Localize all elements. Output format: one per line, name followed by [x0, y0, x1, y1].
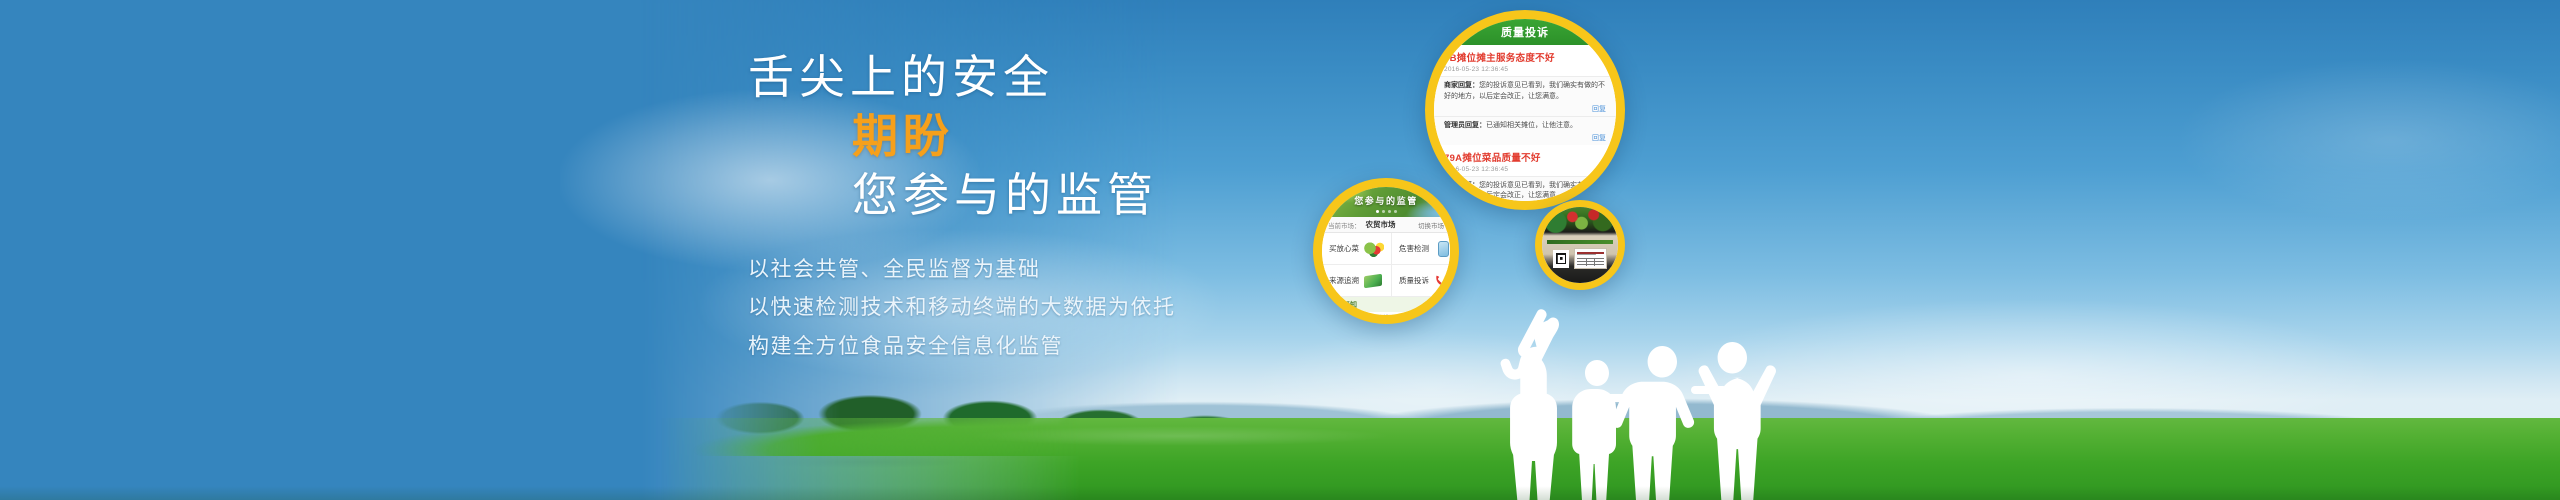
- complaint-title: 79A摊位菜品质量不好: [1444, 150, 1606, 164]
- meadow-grass: [0, 418, 2560, 500]
- carousel-dot[interactable]: [1388, 210, 1391, 213]
- complaint-reply: 管理员回复：已通知相关摊位，让他注意。 回复: [1434, 116, 1616, 145]
- complaint-list: 6B摊位摊主服务态度不好 2016-05-23 12:36:45 商家回复：您的…: [1434, 45, 1616, 201]
- complaint-screenshot-bubble[interactable]: 质量投诉 6B摊位摊主服务态度不好 2016-05-23 12:36:45 商家…: [1425, 10, 1625, 210]
- menu-item-buy-safe-vegetables[interactable]: 买放心菜: [1322, 233, 1392, 265]
- complaint-reply: 商家回复：您的投诉意见已看到，我们确实有做的不好的地方，以后定会改正，让您满意。: [1434, 176, 1616, 201]
- current-market-value: 农贸市场: [1366, 219, 1396, 230]
- reply-link[interactable]: 回复: [1444, 133, 1606, 143]
- vegetables-icon: [1364, 241, 1384, 257]
- merchant-reply-text: 商家回复：您的投诉意见已看到，我们确实有做的不好的地方，以后定会改正，让您满意。: [1444, 81, 1606, 103]
- qr-code-sign: [1553, 250, 1570, 268]
- subtitle-line: 构建全方位食品安全信息化监管: [748, 328, 1488, 367]
- menu-item-label: 质量投诉: [1399, 275, 1429, 286]
- menu-item-hazard-detection[interactable]: 危害检测: [1392, 233, 1450, 265]
- reply-body: 已通知相关摊位，让他注意。: [1486, 122, 1577, 129]
- menu-item-source-tracing[interactable]: 来源追溯: [1322, 265, 1392, 297]
- complaint-screen: 质量投诉 6B摊位摊主服务态度不好 2016-05-23 12:36:45 商家…: [1434, 19, 1616, 201]
- notice-title: 最新通知: [1329, 300, 1357, 310]
- feature-grid: 买放心菜 危害检测 来源追溯 质量投诉: [1322, 233, 1450, 297]
- trace-card-icon: [1364, 273, 1382, 288]
- headline-line-2-accent: 期盼: [852, 107, 1488, 166]
- menu-item-label: 买放心菜: [1329, 243, 1359, 254]
- admin-reply-text: 管理员回复：已通知相关摊位，让他注意。: [1444, 121, 1606, 132]
- menu-item-label: 危害检测: [1399, 243, 1429, 254]
- carousel-dots[interactable]: [1322, 210, 1450, 213]
- family-silhouettes: [1455, 282, 1785, 500]
- menu-item-label: 来源追溯: [1329, 275, 1359, 286]
- merchant-reply-text: 商家回复：您的投诉意见已看到，我们确实有做的不好的地方，以后定会改正，让您满意。: [1444, 181, 1606, 201]
- phone-detect-icon: [1438, 241, 1449, 257]
- reply-link[interactable]: 回复: [1444, 104, 1606, 114]
- carousel-dot[interactable]: [1394, 210, 1397, 213]
- carousel-dot[interactable]: [1382, 210, 1385, 213]
- notice-text: 农产品食品安全监管模式，加大农产品抽检力度: [1322, 312, 1450, 315]
- complaint-title: 6B摊位摊主服务态度不好: [1444, 50, 1606, 64]
- headline-line-1: 舌尖上的安全: [748, 48, 1488, 107]
- app-hero-title: 您参与的监管: [1354, 194, 1418, 207]
- menu-item-quality-complaint[interactable]: 质量投诉 12315: [1392, 265, 1450, 297]
- market-stall-photo: [1542, 207, 1618, 283]
- app-hero-banner: 您参与的监管: [1322, 187, 1450, 217]
- telephone-icon: 12315: [1434, 273, 1450, 289]
- complaint-date: 2016-05-23 12:36:45: [1444, 66, 1606, 73]
- stall-shelf-edge: [1547, 240, 1614, 244]
- switch-market-button[interactable]: 切换市场: [1418, 220, 1444, 230]
- info-board: [1574, 248, 1607, 269]
- complaint-header-title: 质量投诉: [1501, 24, 1549, 40]
- complaint-item[interactable]: 6B摊位摊主服务态度不好 2016-05-23 12:36:45: [1434, 45, 1616, 76]
- carousel-dot[interactable]: [1376, 210, 1379, 213]
- stall-scene: [1542, 207, 1618, 283]
- svg-text:12315: 12315: [1444, 275, 1450, 279]
- reply-author: 商家回复：: [1444, 82, 1479, 89]
- complaint-item[interactable]: 79A摊位菜品质量不好 2016-05-23 12:36:45: [1434, 145, 1616, 176]
- complaint-reply: 商家回复：您的投诉意见已看到，我们确实有做的不好的地方，以后定会改正，让您满意。…: [1434, 76, 1616, 116]
- qr-code-icon: [1556, 253, 1567, 265]
- market-selector-bar[interactable]: 当前市场： 农贸市场 切换市场: [1322, 217, 1450, 233]
- market-label: 当前市场：: [1328, 220, 1361, 230]
- app-home-screen: 您参与的监管 当前市场： 农贸市场 切换市场 买放心菜: [1322, 187, 1450, 315]
- app-menu-screenshot-bubble[interactable]: 您参与的监管 当前市场： 农贸市场 切换市场 买放心菜: [1313, 178, 1459, 324]
- promo-banner: 舌尖上的安全 期盼 您参与的监管 以社会共管、全民监督为基础 以快速检测技术和移…: [0, 0, 2560, 500]
- complaint-date: 2016-05-23 12:36:45: [1444, 166, 1606, 173]
- notice-header: 最新通知: [1322, 297, 1450, 312]
- market-stall-photo-bubble[interactable]: [1535, 200, 1625, 290]
- reply-author: 管理员回复：: [1444, 122, 1486, 129]
- complaint-header: 质量投诉: [1434, 19, 1616, 45]
